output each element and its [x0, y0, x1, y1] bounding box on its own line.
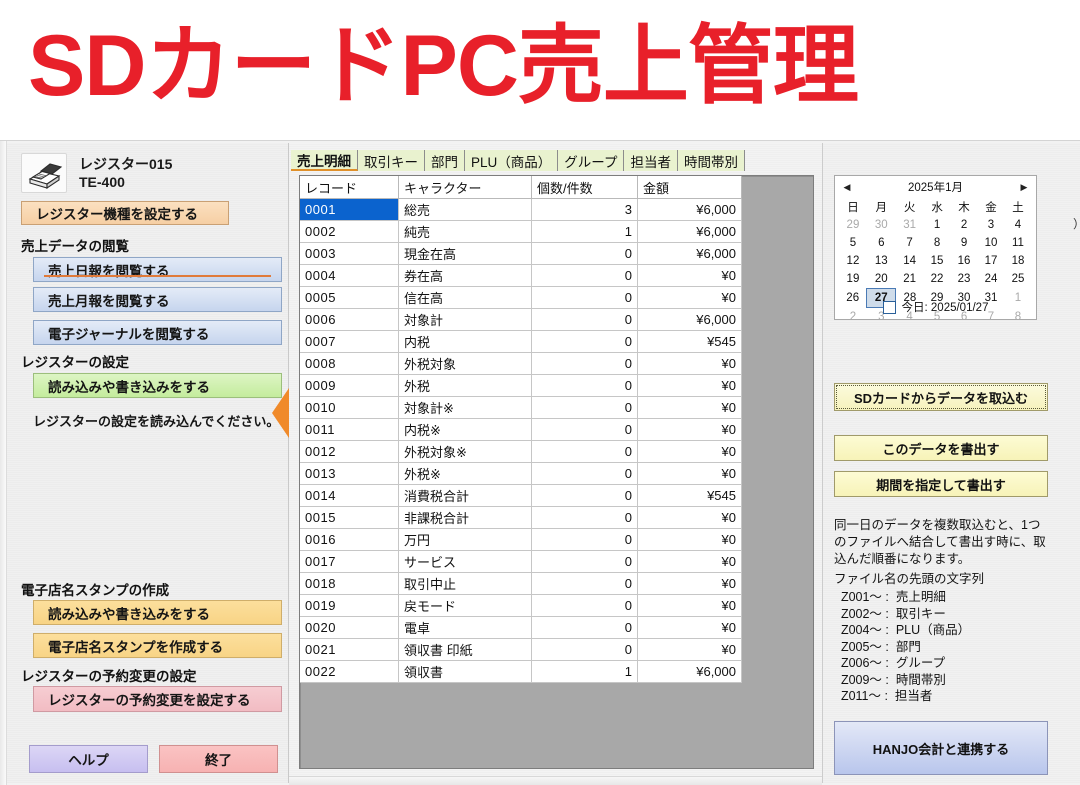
cell-record: 0014 [300, 485, 399, 507]
view-electronic-journal-button[interactable]: 電子ジャーナルを閲覧する [33, 320, 282, 345]
calendar-weekday: 火 [896, 198, 924, 216]
cell-character: 万円 [399, 529, 532, 551]
calendar-day[interactable]: 11 [1004, 234, 1031, 252]
table-row[interactable]: 0021領収書 印紙0¥0 [300, 639, 742, 661]
exit-button[interactable]: 終了 [159, 745, 278, 773]
cell-character: 純売 [399, 221, 532, 243]
cell-record: 0010 [300, 397, 399, 419]
cell-amount: ¥0 [638, 287, 742, 309]
section-label-register-settings: レジスターの設定 [21, 351, 129, 371]
cell-character: 電卓 [399, 617, 532, 639]
cell-record: 0004 [300, 265, 399, 287]
tab-label: 時間帯別 [684, 151, 738, 171]
cell-amount: ¥0 [638, 265, 742, 287]
tab-1[interactable]: 取引キー [358, 150, 425, 171]
calendar-day[interactable]: 4 [1004, 216, 1031, 234]
export-date-range-button[interactable]: 期間を指定して書出す [834, 471, 1048, 497]
cell-quantity: 0 [532, 331, 638, 353]
calendar-day[interactable]: 5 [839, 234, 867, 252]
cell-character: 外税 [399, 375, 532, 397]
calendar-weekday: 月 [867, 198, 896, 216]
table-body: 0001総売3¥6,0000002純売1¥6,0000003現金在高0¥6,00… [300, 199, 742, 683]
date-picker-calendar[interactable]: ◀ 2025年1月 ▶ 日月火水木金土 29303112345678910111… [834, 175, 1037, 320]
cell-character: 非課税合計 [399, 507, 532, 529]
export-this-data-button[interactable]: このデータを書出す [834, 435, 1048, 461]
calendar-week-row: 567891011 [839, 234, 1032, 252]
tab-4[interactable]: グループ [558, 150, 624, 171]
section-label-stamp: 電子店名スタンプの作成 [21, 579, 169, 599]
tab-0[interactable]: 売上明細 [291, 150, 358, 171]
table-row[interactable]: 0006対象計0¥6,000 [300, 309, 742, 331]
cell-record: 0008 [300, 353, 399, 375]
cell-amount: ¥0 [638, 529, 742, 551]
cell-quantity: 0 [532, 529, 638, 551]
calendar-day[interactable]: 31 [896, 216, 924, 234]
cell-amount: ¥0 [638, 595, 742, 617]
cell-character: 領収書 印紙 [399, 639, 532, 661]
sales-detail-grid[interactable]: レコード キャラクター 個数/件数 金額 0001総売3¥6,0000002純売… [299, 175, 814, 769]
cell-quantity: 0 [532, 639, 638, 661]
cell-quantity: 1 [532, 661, 638, 683]
cell-amount: ¥0 [638, 639, 742, 661]
cell-quantity: 3 [532, 199, 638, 221]
column-header-quantity: 個数/件数 [532, 176, 638, 199]
cell-record: 0005 [300, 287, 399, 309]
section-label-sales-view: 売上データの閲覧 [21, 235, 129, 255]
tab-label: 取引キー [364, 151, 418, 171]
cell-character: 外税対象※ [399, 441, 532, 463]
calendar-day[interactable]: 15 [924, 252, 951, 270]
table-row[interactable]: 0004券在高0¥0 [300, 265, 742, 287]
cell-record: 0012 [300, 441, 399, 463]
tab-label: PLU（商品） [471, 151, 551, 171]
cell-quantity: 0 [532, 595, 638, 617]
cell-record: 0002 [300, 221, 399, 243]
cell-record: 0015 [300, 507, 399, 529]
cell-amount: ¥6,000 [638, 243, 742, 265]
stamp-read-write-button[interactable]: 読み込みや書き込みをする [33, 600, 282, 625]
create-stamp-button[interactable]: 電子店名スタンプを作成する [33, 633, 282, 658]
calendar-weekday: 土 [1004, 198, 1031, 216]
cell-record: 0020 [300, 617, 399, 639]
calendar-weekday-row: 日月火水木金土 [839, 198, 1032, 216]
cell-amount: ¥6,000 [638, 199, 742, 221]
cell-character: 券在高 [399, 265, 532, 287]
cell-record: 0017 [300, 551, 399, 573]
table-row[interactable]: 0005信在高0¥0 [300, 287, 742, 309]
table-row[interactable]: 0018取引中止0¥0 [300, 573, 742, 595]
cell-quantity: 0 [532, 551, 638, 573]
cell-quantity: 1 [532, 221, 638, 243]
cell-amount: ¥0 [638, 463, 742, 485]
cell-amount: ¥545 [638, 331, 742, 353]
cell-quantity: 0 [532, 441, 638, 463]
cell-amount: ¥0 [638, 441, 742, 463]
cell-record: 0022 [300, 661, 399, 683]
cell-amount: ¥0 [638, 375, 742, 397]
file-prefix-title: ファイル名の先頭の文字列 [834, 571, 984, 588]
tab-6[interactable]: 時間帯別 [678, 150, 745, 171]
calendar-day[interactable]: 29 [839, 216, 867, 234]
calendar-week-row: 12131415161718 [839, 252, 1032, 270]
cell-character: 内税※ [399, 419, 532, 441]
cell-amount: ¥0 [638, 573, 742, 595]
tab-5[interactable]: 担当者 [624, 150, 678, 171]
register-header: レジスター015 TE-400 [21, 151, 271, 195]
register-name: レジスター015 [79, 155, 172, 173]
calendar-week-row: 2930311234 [839, 216, 1032, 234]
table-row[interactable]: 0009外税0¥0 [300, 375, 742, 397]
calendar-day[interactable]: 12 [839, 252, 867, 270]
set-reserve-change-button[interactable]: レジスターの予約変更を設定する [33, 686, 282, 712]
merge-order-note: 同一日のデータを複数取込むと、1つ のファイルへ結合して書出す時に、取 込んだ順… [834, 517, 1046, 568]
calendar-day[interactable]: 19 [839, 270, 867, 289]
cell-amount: ¥6,000 [638, 661, 742, 683]
table-row[interactable]: 0019戻モード0¥0 [300, 595, 742, 617]
calendar-day[interactable]: 18 [1004, 252, 1031, 270]
cell-quantity: 0 [532, 507, 638, 529]
cell-character: 領収書 [399, 661, 532, 683]
cell-character: 対象計※ [399, 397, 532, 419]
help-button[interactable]: ヘルプ [29, 745, 148, 773]
cell-quantity: 0 [532, 265, 638, 287]
right-panel: ） ◀ 2025年1月 ▶ 日月火水木金土 293031123456789101… [822, 143, 1080, 783]
tab-bar: 売上明細取引キー部門PLU（商品）グループ担当者時間帯別 [291, 149, 821, 171]
table-header-row: レコード キャラクター 個数/件数 金額 [300, 176, 742, 199]
table-row[interactable]: 0003現金在高0¥6,000 [300, 243, 742, 265]
cell-quantity: 0 [532, 243, 638, 265]
cell-amount: ¥0 [638, 397, 742, 419]
today-label: 今日: 2025/01/27 [902, 299, 989, 315]
section-label-reserve: レジスターの予約変更の設定 [21, 665, 197, 685]
calendar-day[interactable]: 21 [896, 270, 924, 289]
table-row[interactable]: 0007内税0¥545 [300, 331, 742, 353]
calendar-weekday: 木 [951, 198, 978, 216]
app-screen: SDカードPC売上管理 [0, 0, 1080, 784]
cell-record: 0009 [300, 375, 399, 397]
cell-amount: ¥6,000 [638, 309, 742, 331]
tab-label: 売上明細 [297, 150, 351, 170]
cell-character: サービス [399, 551, 532, 573]
cell-character: 現金在高 [399, 243, 532, 265]
cell-quantity: 0 [532, 397, 638, 419]
tab-2[interactable]: 部門 [425, 150, 465, 171]
table-row[interactable]: 0012外税対象※0¥0 [300, 441, 742, 463]
cell-record: 0007 [300, 331, 399, 353]
calendar-next-month-icon[interactable]: ▶ [1018, 181, 1030, 193]
cell-record: 0003 [300, 243, 399, 265]
calendar-day[interactable]: 24 [978, 270, 1005, 289]
calendar-day[interactable]: 16 [951, 252, 978, 270]
cell-character: 対象計 [399, 309, 532, 331]
calendar-today-row[interactable]: 今日: 2025/01/27 [835, 299, 1036, 315]
table-row[interactable]: 0002純売1¥6,000 [300, 221, 742, 243]
clipped-offscreen-text: ） [1073, 215, 1080, 232]
calendar-day[interactable]: 22 [924, 270, 951, 289]
cell-record: 0006 [300, 309, 399, 331]
calendar-day[interactable]: 2 [951, 216, 978, 234]
table-row[interactable]: 0022領収書1¥6,000 [300, 661, 742, 683]
calendar-title: 2025年1月 [835, 178, 1036, 196]
cell-character: 外税対象 [399, 353, 532, 375]
table-row[interactable]: 0015非課税合計0¥0 [300, 507, 742, 529]
calendar-weekday: 水 [924, 198, 951, 216]
calendar-day[interactable]: 17 [978, 252, 1005, 270]
cell-character: 取引中止 [399, 573, 532, 595]
cell-quantity: 0 [532, 287, 638, 309]
cell-record: 0011 [300, 419, 399, 441]
column-header-record: レコード [300, 176, 399, 199]
cash-register-icon [21, 153, 67, 193]
table-row[interactable]: 0011内税※0¥0 [300, 419, 742, 441]
tab-label: 部門 [431, 151, 458, 171]
calendar-day[interactable]: 13 [867, 252, 896, 270]
calendar-day[interactable]: 8 [924, 234, 951, 252]
calendar-weekday: 日 [839, 198, 867, 216]
title-banner: SDカードPC売上管理 [0, 0, 1080, 140]
calendar-day[interactable]: 1 [924, 216, 951, 234]
cell-record: 0018 [300, 573, 399, 595]
tab-label: 担当者 [630, 151, 671, 171]
calendar-weekday: 金 [978, 198, 1005, 216]
table-row[interactable]: 0001総売3¥6,000 [300, 199, 742, 221]
cell-amount: ¥6,000 [638, 221, 742, 243]
table-row[interactable]: 0020電卓0¥0 [300, 617, 742, 639]
cell-record: 0021 [300, 639, 399, 661]
cell-quantity: 0 [532, 419, 638, 441]
cell-amount: ¥0 [638, 419, 742, 441]
register-model: TE-400 [79, 173, 125, 191]
cell-quantity: 0 [532, 375, 638, 397]
pointer-arrow-icon [272, 388, 289, 438]
table-row[interactable]: 0017サービス0¥0 [300, 551, 742, 573]
cell-quantity: 0 [532, 617, 638, 639]
column-header-amount: 金額 [638, 176, 742, 199]
cell-quantity: 0 [532, 463, 638, 485]
tab-label: グループ [564, 151, 617, 171]
cell-amount: ¥0 [638, 353, 742, 375]
view-daily-report-button[interactable]: 売上日報を閲覧する [33, 257, 282, 282]
table-row[interactable]: 0008外税対象0¥0 [300, 353, 742, 375]
cell-character: 信在高 [399, 287, 532, 309]
cell-quantity: 0 [532, 573, 638, 595]
cell-character: 総売 [399, 199, 532, 221]
file-prefix-list: Z001～ : 売上明細 Z002～ : 取引キー Z004～ : PLU（商品… [834, 589, 970, 705]
cell-quantity: 0 [532, 309, 638, 331]
cell-character: 消費税合計 [399, 485, 532, 507]
calendar-day[interactable]: 6 [867, 234, 896, 252]
table-row[interactable]: 0010対象計※0¥0 [300, 397, 742, 419]
calendar-day[interactable]: 10 [978, 234, 1005, 252]
cell-character: 外税※ [399, 463, 532, 485]
cell-character: 戻モード [399, 595, 532, 617]
set-register-model-button[interactable]: レジスター機種を設定する [21, 201, 229, 225]
today-checkbox[interactable] [883, 301, 896, 314]
cell-amount: ¥0 [638, 551, 742, 573]
cell-character: 内税 [399, 331, 532, 353]
page-title: SDカードPC売上管理 [28, 16, 858, 116]
calendar-day[interactable]: 3 [978, 216, 1005, 234]
register-read-write-button[interactable]: 読み込みや書き込みをする [33, 373, 282, 398]
calendar-day[interactable]: 23 [951, 270, 978, 289]
sales-table: レコード キャラクター 個数/件数 金額 0001総売3¥6,0000002純売… [300, 176, 742, 683]
tab-3[interactable]: PLU（商品） [465, 150, 558, 171]
calendar-day[interactable]: 7 [896, 234, 924, 252]
calendar-day[interactable]: 25 [1004, 270, 1031, 289]
main-panel: 売上明細取引キー部門PLU（商品）グループ担当者時間帯別 レコード キャラクター… [289, 143, 822, 783]
table-row[interactable]: 0013外税※0¥0 [300, 463, 742, 485]
cell-quantity: 0 [532, 353, 638, 375]
active-underline [44, 275, 271, 277]
cell-record: 0001 [300, 199, 399, 221]
table-row[interactable]: 0016万円0¥0 [300, 529, 742, 551]
calendar-day[interactable]: 9 [951, 234, 978, 252]
cell-amount: ¥0 [638, 507, 742, 529]
table-row[interactable]: 0014消費税合計0¥545 [300, 485, 742, 507]
cell-amount: ¥545 [638, 485, 742, 507]
cell-amount: ¥0 [638, 617, 742, 639]
read-settings-note: レジスターの設定を読み込んでください。 [33, 411, 279, 430]
calendar-day[interactable]: 20 [867, 270, 896, 289]
view-monthly-report-button[interactable]: 売上月報を閲覧する [33, 287, 282, 312]
cell-record: 0019 [300, 595, 399, 617]
hanjo-link-button[interactable]: HANJO会計と連携する [834, 721, 1048, 775]
cell-record: 0013 [300, 463, 399, 485]
column-header-character: キャラクター [399, 176, 532, 199]
cell-record: 0016 [300, 529, 399, 551]
sidebar: レジスター015 TE-400 レジスター機種を設定する 売上データの閲覧 売上… [7, 143, 289, 783]
window-left-edge [0, 141, 7, 785]
application-window: レジスター015 TE-400 レジスター機種を設定する 売上データの閲覧 売上… [0, 140, 1080, 785]
import-from-sd-button[interactable]: SDカードからデータを取込む [834, 383, 1048, 411]
calendar-week-row: 19202122232425 [839, 270, 1032, 289]
calendar-day[interactable]: 30 [867, 216, 896, 234]
cell-quantity: 0 [532, 485, 638, 507]
calendar-day[interactable]: 14 [896, 252, 924, 270]
